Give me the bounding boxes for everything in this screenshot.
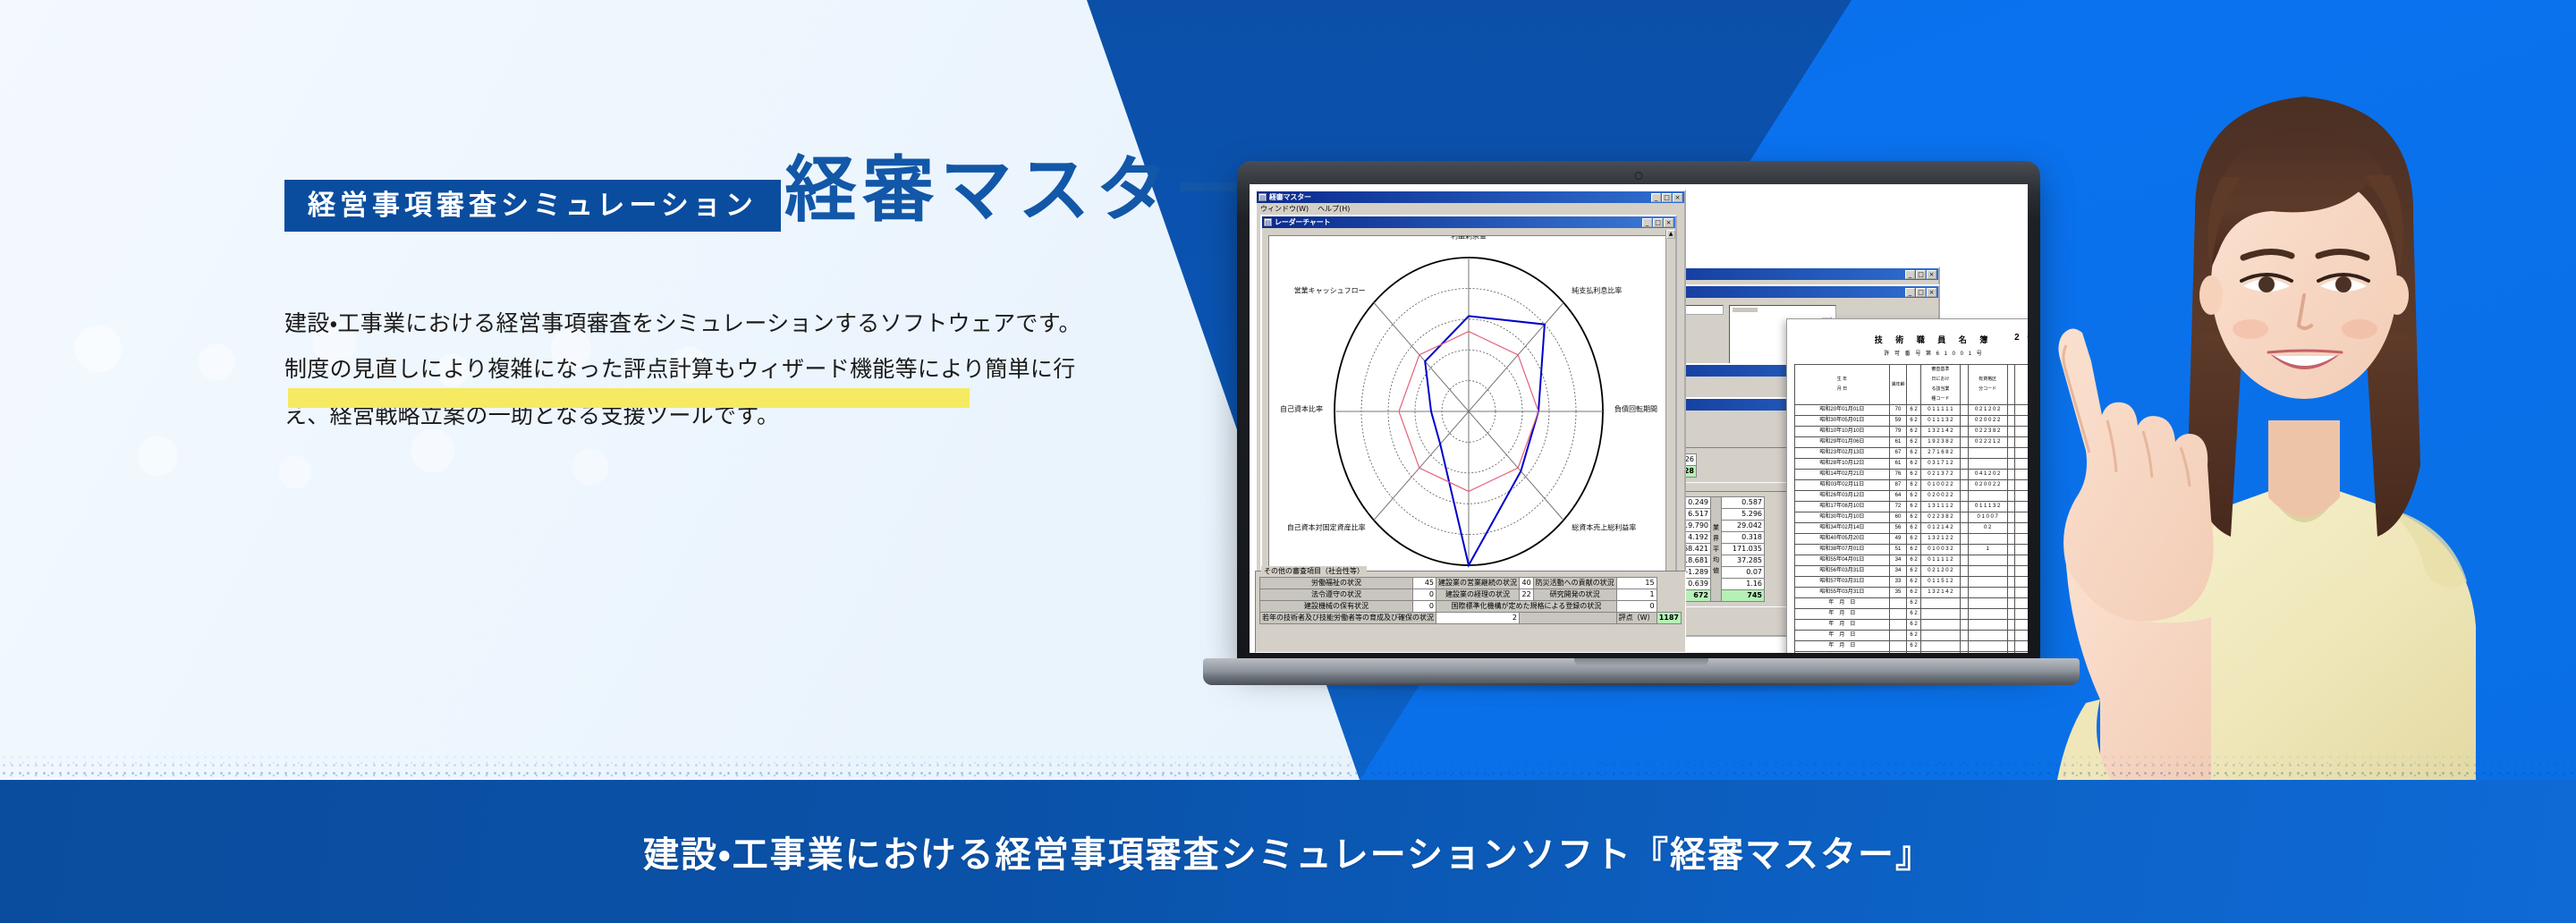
roster-cell: 6 2 <box>1907 566 1921 577</box>
roster-cell <box>1961 480 1969 491</box>
roster-cell: 6 2 <box>1907 405 1921 416</box>
roster-column-header: 生 年 月 日 <box>1795 365 1890 405</box>
blush-left <box>2233 319 2268 339</box>
roster-cell: 6 2 <box>1907 534 1921 545</box>
roster-cell: 33 <box>1889 577 1906 588</box>
roster-cell: 0 1 2 1 4 2 <box>1920 523 1960 534</box>
roster-cell: 6 2 <box>1907 502 1921 512</box>
roster-column-header: 審査基準日における該当業種コード <box>1920 365 1960 405</box>
minimize-button[interactable]: _ <box>1905 270 1915 279</box>
social-spacer <box>1520 613 1617 624</box>
table-row: 昭和55年03月31日356 21 3 2 1 4 2 <box>1795 588 2029 598</box>
radar-axis-label: 営業キャッシュフロー <box>1294 286 1366 295</box>
roster-cell: 0 1 0 0 2 2 <box>1920 480 1960 491</box>
table-row: 昭和30年01月10日606 20 2 2 3 8 20 1 0 0 7 <box>1795 512 2029 523</box>
headline-underline-accent <box>288 388 970 408</box>
roster-cell: 72 <box>1889 502 1906 512</box>
laptop-screen: ▤ _ □ × ▤ _ <box>1250 184 2028 653</box>
table-row: 昭和29年01月06日616 21 9 2 3 8 20 2 2 2 1 2 <box>1795 437 2029 448</box>
industry-average-label: 業界平均値 <box>1711 497 1722 602</box>
roster-cell <box>1961 491 1969 502</box>
roster-cell <box>1961 566 1969 577</box>
social-item-value[interactable]: 22 <box>1520 589 1534 601</box>
roster-cell: 6 2 <box>1907 523 1921 534</box>
roster-cell: 87 <box>1889 480 1906 491</box>
social-item-value[interactable]: 1 <box>1616 589 1657 601</box>
roster-cell: 60 <box>1889 512 1906 523</box>
social-item-label: 建設機械の保有状況 <box>1260 601 1413 613</box>
roster-cell: 昭和29年01月06日 <box>1795 437 1890 448</box>
roster-cell: 6 2 <box>1907 437 1921 448</box>
roster-cell: 0 1 0 0 3 2 <box>1920 545 1960 555</box>
table-row: 昭和55年04月01日346 20 1 1 1 1 2 <box>1795 555 2029 566</box>
roster-cell <box>1961 523 1969 534</box>
roster-cell <box>1961 416 1969 427</box>
social-panel-wrapper: その他の審査項目（社会性等） 労働福祉の状況45建設業の営業継続の状況40防災活… <box>1255 571 1686 653</box>
eyebrow-badge: 経営事項審査シミュレーション <box>284 180 781 232</box>
roster-cell <box>1961 502 1969 512</box>
roster-cell <box>1968 652 2007 654</box>
table-row: 年 月 日6 2 <box>1795 631 2029 641</box>
radar-axis-label: 負債回転期間 <box>1614 404 1657 413</box>
window-controls[interactable]: _ □ × <box>1905 270 1936 279</box>
roster-cell <box>1920 641 1960 652</box>
table-row: 年 月 日6 2 <box>1795 652 2029 654</box>
roster-cell: 1 3 2 1 4 2 <box>1920 588 1960 598</box>
radar-axis-label: 自己資本比率 <box>1280 404 1323 413</box>
roster-cell: 70 <box>1889 405 1906 416</box>
roster-cell: 0 4 1 2 0 2 <box>1968 470 2007 480</box>
ear-left <box>2199 275 2223 315</box>
roster-cell: 昭和38年07月01日 <box>1795 545 1890 555</box>
roster-cell: 昭和23年02月13日 <box>1795 448 1890 459</box>
roster-cell <box>1968 459 2007 470</box>
radar-chart-plot: 利益剰余金純支払利息比率負債回転期間総資本売上総利益率売上高経常利益率自己資本対… <box>1268 235 1667 593</box>
social-items-table: 労働福祉の状況45建設業の営業継続の状況40防災活動への貢献の状況15法令遵守の… <box>1259 577 1682 624</box>
roster-table: 生 年 月 日満年齢審査基準日における該当業種コード有資格区分コード監理技術者資… <box>1794 364 2028 653</box>
laptop-shadow <box>1221 683 2062 694</box>
social-item-value[interactable]: 0 <box>1616 601 1657 613</box>
social-items-group: その他の審査項目（社会性等） 労働福祉の状況45建設業の営業継続の状況40防災活… <box>1255 571 1686 653</box>
roster-cell <box>1961 437 1969 448</box>
roster-cell <box>1961 609 1969 620</box>
roster-cell: 1 <box>1968 545 2007 555</box>
roster-cell: 56 <box>1889 523 1906 534</box>
window-controls[interactable]: _ □ × <box>1642 218 1674 227</box>
table-row: 昭和17年08月10日726 21 3 1 1 1 20 1 1 1 3 2 <box>1795 502 2029 512</box>
roster-cell: 昭和17年08月10日 <box>1795 502 1890 512</box>
pupil-left <box>2258 276 2275 292</box>
roster-column-header <box>1907 365 1921 405</box>
window-controls[interactable]: _ □ × <box>1651 193 1682 202</box>
technician-roster-document[interactable]: （様式第４号） 2 0 0 0 5 技 術 職 員 名 簿 許 可 番 号 第 … <box>1786 318 2028 653</box>
radar-axis-label: 純支払利息比率 <box>1572 286 1622 295</box>
pointing-hand <box>2058 328 2213 621</box>
roster-cell: 年 月 日 <box>1795 609 1890 620</box>
roster-cell <box>1889 641 1906 652</box>
ratio-average[interactable]: 1.16 <box>1722 579 1765 590</box>
neck <box>2268 420 2340 517</box>
roster-cell: 年 月 日 <box>1795 641 1890 652</box>
roster-cell: 昭和20年01月01日 <box>1795 405 1890 416</box>
roster-cell: 6 2 <box>1907 577 1921 588</box>
roster-cell <box>1961 641 1969 652</box>
social-item-label: 法令遵守の状況 <box>1260 589 1413 601</box>
roster-cell: 6 2 <box>1907 512 1921 523</box>
maximize-button[interactable]: □ <box>1916 288 1926 297</box>
blush-right <box>2342 319 2377 339</box>
roster-cell <box>1961 534 1969 545</box>
table-row: 法令遵守の状況0建設業の経理の状況22研究開発の状況1 <box>1260 589 1682 601</box>
roster-cell: 昭和34年02月14日 <box>1795 523 1890 534</box>
roster-cell: 79 <box>1889 427 1906 437</box>
roster-cell: 昭和55年04月01日 <box>1795 555 1890 566</box>
roster-cell: 昭和57年03月31日 <box>1795 577 1890 588</box>
social-item-value[interactable]: 0 <box>1413 589 1436 601</box>
roster-cell: 51 <box>1889 545 1906 555</box>
pupil-right <box>2335 276 2351 292</box>
main-window-titlebar[interactable]: ▤ 経審マスター _ □ × <box>1257 191 1684 203</box>
roster-column-header <box>1961 365 1969 405</box>
roster-cell: 1 9 2 3 8 2 <box>1920 437 1960 448</box>
roster-cell: 6 2 <box>1907 448 1921 459</box>
social-items-title: その他の審査項目（社会性等） <box>1261 566 1367 576</box>
roster-cell <box>1961 405 1969 416</box>
laptop-mockup: ▤ _ □ × ▤ _ <box>1203 161 2080 708</box>
roster-column-header: 有資格区分コード <box>1968 365 2007 405</box>
social-total-value: 1187 <box>1657 613 1681 624</box>
table-row: 昭和40年05月20日496 21 3 2 1 2 2 <box>1795 534 2029 545</box>
roster-cell: 昭和26年03月12日 <box>1795 491 1890 502</box>
menu-item-window[interactable]: ウィンドウ(W) <box>1260 204 1309 213</box>
roster-cell <box>1961 577 1969 588</box>
radar-axis-label: 自己資本対固定資産比率 <box>1287 523 1366 532</box>
document-subtitle: 許 可 番 号 第 6 1 0 0 1 号 <box>1787 349 2028 357</box>
roster-cell <box>1968 555 2007 566</box>
ratio-average[interactable]: 0.318 <box>1722 532 1765 544</box>
hero-banner: 経営事項審査シミュレーション 経審マスター 建設・工事業における経営事項審査をシ… <box>0 0 2576 923</box>
table-row: 昭和38年07月01日516 20 1 0 0 3 21 <box>1795 545 2029 555</box>
roster-cell: 昭和30年01月10日 <box>1795 512 1890 523</box>
window-controls[interactable]: _ □ × <box>1905 288 1936 297</box>
roster-cell <box>1920 652 1960 654</box>
table-row: 年 月 日6 2 <box>1795 609 2029 620</box>
roster-cell <box>1961 620 1969 631</box>
roster-cell: 6 2 <box>1907 652 1921 654</box>
roster-cell: 6 2 <box>1907 545 1921 555</box>
roster-cell: 6 2 <box>1907 427 1921 437</box>
preview-label <box>1733 308 1758 312</box>
roster-cell <box>1889 598 1906 609</box>
roster-cell <box>1961 448 1969 459</box>
hero-description-line-2: 制度の見直しにより複雑になった評点計算もウィザード機能等により簡単に行 <box>284 347 1268 393</box>
roster-cell: 0 2 2 3 8 2 <box>1920 512 1960 523</box>
hero-description-line-1: 建設・工事業における経営事項審査をシミュレーションするソフトウェアです。 <box>284 301 1268 347</box>
roster-cell: 6 2 <box>1907 491 1921 502</box>
roster-cell: 昭和03年02月11日 <box>1795 480 1890 491</box>
table-row: 昭和20年01月01日706 20 1 1 1 1 10 2 1 2 0 209… <box>1795 405 2029 416</box>
laptop-lid: ▤ _ □ × ▤ _ <box>1237 161 2040 664</box>
roster-cell: 0 2 0 0 2 2 <box>1920 491 1960 502</box>
roster-cell: 61 <box>1889 437 1906 448</box>
roster-cell: 6 2 <box>1907 620 1921 631</box>
ratio-average[interactable]: 0.07 <box>1722 567 1765 579</box>
roster-cell: 0 2 1 3 7 2 <box>1920 470 1960 480</box>
bottom-banner-text: 建設・工事業における経営事項審査シミュレーションソフト『経審マスター』 <box>643 826 1933 877</box>
roster-cell <box>1961 545 1969 555</box>
ratio-average[interactable]: 5.296 <box>1722 509 1765 521</box>
roster-cell: 6 2 <box>1907 555 1921 566</box>
roster-cell: 年 月 日 <box>1795 598 1890 609</box>
roster-cell: 6 2 <box>1907 416 1921 427</box>
roster-cell: 昭和30年05月01日 <box>1795 416 1890 427</box>
page-title: 経審マスター <box>784 155 1251 226</box>
roster-cell: 34 <box>1889 566 1906 577</box>
main-window-title: 経審マスター <box>1269 192 1648 202</box>
ear-right <box>2385 275 2409 315</box>
radar-chart-svg: 利益剰余金純支払利息比率負債回転期間総資本売上総利益率売上高経常利益率自己資本対… <box>1269 236 1668 594</box>
social-item-label: 若年の技術者及び技能労働者等の育成及び確保の状況 <box>1260 613 1436 624</box>
roster-cell <box>1961 652 1969 654</box>
presenter-photo <box>2004 0 2576 780</box>
radar-axis-label: 総資本売上総利益率 <box>1572 523 1636 532</box>
table-row: 昭和28年10月12日616 20 3 1 7 1 2 <box>1795 459 2029 470</box>
roster-cell: 61 <box>1889 459 1906 470</box>
table-row: 労働福祉の状況45建設業の営業継続の状況40防災活動への貢献の状況15 <box>1260 578 1682 589</box>
table-row: 年 月 日6 2 <box>1795 620 2029 631</box>
roster-cell: 昭和40年05月20日 <box>1795 534 1890 545</box>
radar-axis-label: 利益剰余金 <box>1451 236 1487 241</box>
table-row: 建設機械の保有状況0国際標準化機構が定めた規格による登録の状況0 <box>1260 601 1682 613</box>
roster-cell: 昭和10年10月10日 <box>1795 427 1890 437</box>
table-row: 年 月 日6 2 <box>1795 641 2029 652</box>
social-item-value[interactable]: 40 <box>1520 578 1534 589</box>
roster-cell <box>1889 620 1906 631</box>
roster-cell: 64 <box>1889 491 1906 502</box>
chart-icon: ▤ <box>1264 218 1272 226</box>
roster-cell <box>1968 631 2007 641</box>
social-item-label: 建設業の経理の状況 <box>1436 589 1520 601</box>
table-header-row: 生 年 月 日満年齢審査基準日における該当業種コード有資格区分コード監理技術者資… <box>1795 365 2029 405</box>
table-row: 若年の技術者及び技能労働者等の育成及び確保の状況2評点（W）1187 <box>1260 613 1682 624</box>
close-button[interactable]: × <box>1927 288 1936 297</box>
presenter-illustration <box>2004 0 2576 780</box>
roster-cell <box>1961 588 1969 598</box>
roster-cell: 0 2 1 2 0 2 <box>1968 405 2007 416</box>
roster-cell <box>1920 631 1960 641</box>
ratio-average[interactable]: 0.587 <box>1722 497 1765 509</box>
radar-window-titlebar[interactable]: ▤ レーダーチャート _ □ × <box>1262 216 1675 228</box>
table-row: 昭和14年02月21日766 20 2 1 3 7 20 4 1 2 0 2 <box>1795 470 2029 480</box>
scroll-up-arrow[interactable]: ▲ <box>1666 230 1675 239</box>
menu-bar[interactable]: ウィンドウ(W) ヘルプ(H) <box>1257 203 1684 214</box>
social-item-label: 研究開発の状況 <box>1533 589 1616 601</box>
social-item-label: 国際標準化機構が定めた規格による登録の状況 <box>1436 601 1617 613</box>
roster-cell: 0 1 0 0 7 <box>1968 512 2007 523</box>
roster-cell: 0 2 2 3 8 2 <box>1968 427 2007 437</box>
radar-window-title: レーダーチャート <box>1275 217 1640 227</box>
roster-cell <box>1968 641 2007 652</box>
table-row: 昭和57年03月31日336 20 1 1 5 1 2 <box>1795 577 2029 588</box>
roster-cell: 1 3 2 1 4 2 <box>1920 427 1960 437</box>
roster-cell <box>1961 631 1969 641</box>
document-title: 技 術 職 員 名 簿 <box>1787 334 2028 345</box>
maximize-button[interactable]: □ <box>1653 218 1663 227</box>
table-row: 年 月 日6 2 <box>1795 598 2029 609</box>
roster-cell: 6 2 <box>1907 609 1921 620</box>
roster-cell <box>1961 598 1969 609</box>
social-item-value[interactable]: 2 <box>1436 613 1520 624</box>
roster-cell <box>1968 566 2007 577</box>
table-row: 昭和03年02月11日876 20 1 0 0 2 20 2 0 0 2 2 <box>1795 480 2029 491</box>
roster-cell: 0 1 1 1 1 1 <box>1920 405 1960 416</box>
roster-cell <box>1889 652 1906 654</box>
roster-cell <box>1889 609 1906 620</box>
roster-cell: 0 1 1 1 1 2 <box>1920 555 1960 566</box>
minimize-button[interactable]: _ <box>1642 218 1652 227</box>
roster-cell: 0 2 1 2 0 2 <box>1920 566 1960 577</box>
roster-cell <box>1968 534 2007 545</box>
social-item-value[interactable]: 0 <box>1413 601 1436 613</box>
roster-cell: 67 <box>1889 448 1906 459</box>
ratio-average[interactable]: 37.285 <box>1722 555 1765 567</box>
roster-cell: 昭和28年10月12日 <box>1795 459 1890 470</box>
app-icon: ▤ <box>1258 193 1267 201</box>
close-button[interactable]: × <box>1664 218 1674 227</box>
roster-cell <box>1968 588 2007 598</box>
roster-cell <box>1968 598 2007 609</box>
ratio-average[interactable]: 745 <box>1722 590 1765 602</box>
roster-cell: 6 2 <box>1907 459 1921 470</box>
roster-cell: 76 <box>1889 470 1906 480</box>
roster-cell: 35 <box>1889 588 1906 598</box>
table-row: 昭和10年10月10日796 21 3 2 1 4 20 2 2 3 8 2 <box>1795 427 2029 437</box>
roster-cell <box>1968 609 2007 620</box>
maximize-button[interactable]: □ <box>1662 193 1672 202</box>
roster-cell: 34 <box>1889 555 1906 566</box>
roster-cell <box>1968 620 2007 631</box>
roster-cell: 6 2 <box>1907 631 1921 641</box>
minimize-button[interactable]: _ <box>1905 288 1915 297</box>
roster-cell <box>1968 491 2007 502</box>
roster-cell: 昭和56年03月31日 <box>1795 566 1890 577</box>
radar-axis-line <box>1374 302 1469 411</box>
ratio-average[interactable]: 171.035 <box>1722 544 1765 555</box>
roster-cell <box>1920 620 1960 631</box>
roster-cell: 昭和55年03月31日 <box>1795 588 1890 598</box>
table-row: 昭和56年03月31日346 20 2 1 2 0 2 <box>1795 566 2029 577</box>
close-button[interactable]: × <box>1673 193 1682 202</box>
bottom-banner: 建設・工事業における経営事項審査シミュレーションソフト『経審マスター』 <box>0 780 2576 923</box>
roster-cell: 年 月 日 <box>1795 620 1890 631</box>
roster-cell: 0 3 1 7 1 2 <box>1920 459 1960 470</box>
roster-cell: 6 2 <box>1907 641 1921 652</box>
roster-cell <box>1889 631 1906 641</box>
table-row: 昭和26年03月12日646 20 2 0 0 2 2 <box>1795 491 2029 502</box>
roster-cell <box>1961 427 1969 437</box>
roster-cell: 昭和14年02月21日 <box>1795 470 1890 480</box>
roster-cell: 1 3 2 1 2 2 <box>1920 534 1960 545</box>
roster-cell: 49 <box>1889 534 1906 545</box>
roster-cell: 年 月 日 <box>1795 652 1890 654</box>
laptop-base <box>1203 658 2080 685</box>
close-button[interactable]: × <box>1927 270 1936 279</box>
roster-cell: 0 1 1 1 3 2 <box>1920 416 1960 427</box>
roster-cell <box>1968 577 2007 588</box>
menu-item-help[interactable]: ヘルプ(H) <box>1318 204 1350 213</box>
roster-cell: 0 2 2 2 1 2 <box>1968 437 2007 448</box>
roster-cell <box>1968 448 2007 459</box>
social-item-label: 建設業の営業継続の状況 <box>1436 578 1520 589</box>
roster-cell: 6 2 <box>1907 588 1921 598</box>
radar-axis-line <box>1469 411 1563 521</box>
roster-cell: 6 2 <box>1907 470 1921 480</box>
roster-cell <box>1920 598 1960 609</box>
roster-cell <box>1961 555 1969 566</box>
roster-cell: 0 1 1 1 3 2 <box>1968 502 2007 512</box>
roster-cell: 0 2 <box>1968 523 2007 534</box>
minimize-button[interactable]: _ <box>1651 193 1661 202</box>
social-item-label: 労働福祉の状況 <box>1260 578 1413 589</box>
webcam-icon <box>1635 172 1643 180</box>
social-item-value[interactable]: 45 <box>1413 578 1436 589</box>
roster-cell: 1 3 1 1 1 2 <box>1920 502 1960 512</box>
roster-cell: 0 2 0 0 2 2 <box>1968 480 2007 491</box>
roster-column-header: 満年齢 <box>1889 365 1906 405</box>
roster-cell <box>1961 459 1969 470</box>
table-row: 昭和34年02月14日566 20 1 2 1 4 20 2 <box>1795 523 2029 534</box>
roster-cell <box>1961 512 1969 523</box>
roster-cell <box>1920 609 1960 620</box>
social-item-value[interactable]: 15 <box>1616 578 1657 589</box>
social-item-label: 防災活動への貢献の状況 <box>1533 578 1616 589</box>
maximize-button[interactable]: □ <box>1916 270 1926 279</box>
roster-cell: 0 1 1 5 1 2 <box>1920 577 1960 588</box>
social-total-label: 評点（W） <box>1616 613 1657 624</box>
ratio-average[interactable]: 29.042 <box>1722 521 1765 532</box>
roster-cell: 年 月 日 <box>1795 631 1890 641</box>
radar-axis-line <box>1469 302 1563 411</box>
hero-description: 建設・工事業における経営事項審査をシミュレーションするソフトウェアです。 制度の… <box>284 301 1268 439</box>
roster-cell: 2 7 1 6 8 2 <box>1920 448 1960 459</box>
roster-cell: 0 2 0 0 2 2 <box>1968 416 2007 427</box>
table-row: 昭和30年05月01日596 20 1 1 1 3 20 2 0 0 2 2 <box>1795 416 2029 427</box>
table-row: 昭和23年02月13日676 22 7 1 6 8 2 <box>1795 448 2029 459</box>
roster-cell: 59 <box>1889 416 1906 427</box>
roster-cell: 6 2 <box>1907 598 1921 609</box>
roster-cell <box>1961 470 1969 480</box>
roster-cell: 6 2 <box>1907 480 1921 491</box>
